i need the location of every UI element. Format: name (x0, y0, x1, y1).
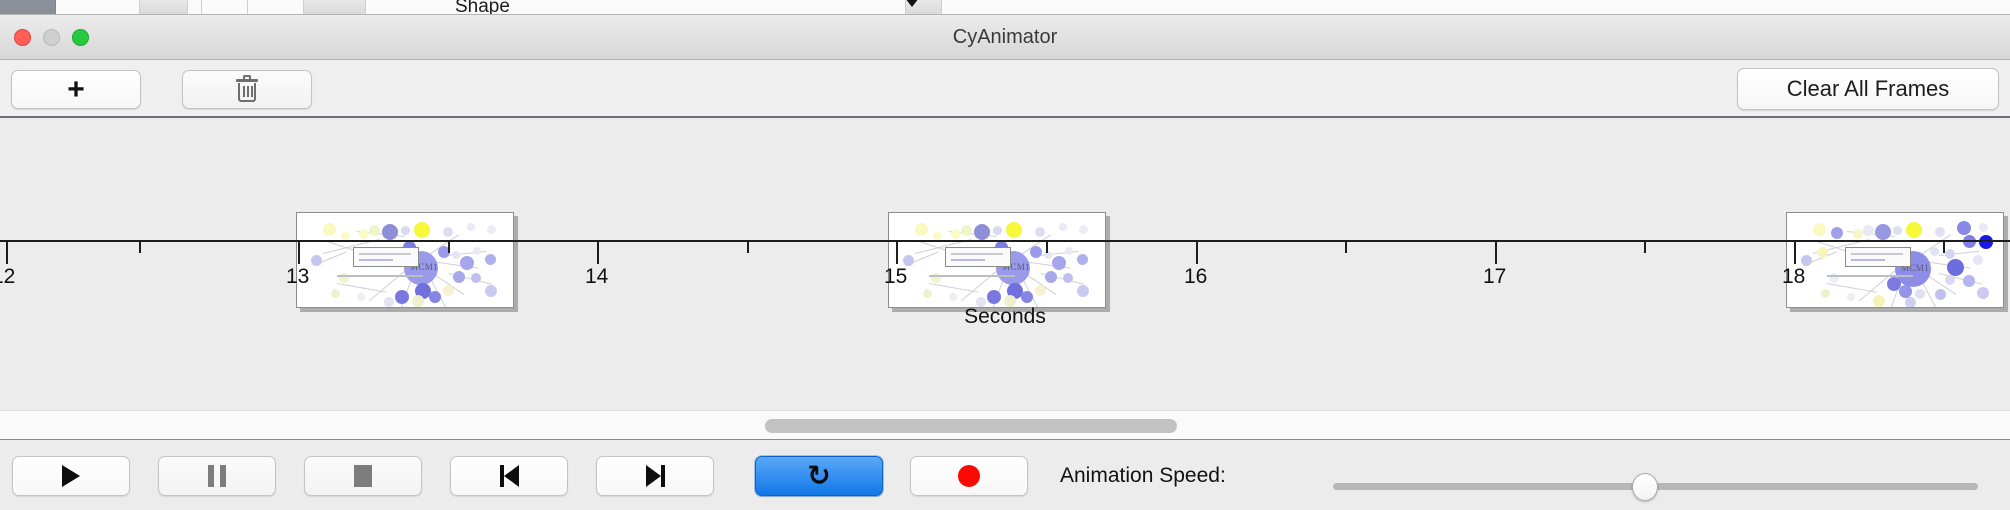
toolbar: + Clear All Frames (0, 60, 2010, 118)
ruler-tick-major (1495, 242, 1497, 264)
animation-speed-slider-thumb[interactable] (1632, 473, 1658, 501)
clear-all-frames-button[interactable]: Clear All Frames (1737, 68, 1999, 110)
clear-all-frames-label: Clear All Frames (1787, 76, 1950, 102)
skip-next-icon (646, 465, 665, 487)
plus-icon: + (67, 75, 85, 105)
cyanimator-window: Shape CyAnimator + Clear All Frames (0, 0, 2010, 510)
pause-icon (208, 465, 226, 487)
ruler-tick-minor (139, 242, 141, 253)
bg-segment (56, 0, 140, 15)
ruler-label: 15 (884, 265, 907, 289)
bg-segment (248, 0, 304, 15)
network-thumbnail: MCM1 (297, 213, 513, 307)
titlebar: CyAnimator (0, 15, 2010, 60)
skip-previous-icon (500, 465, 519, 487)
background-window-strip: Shape (0, 0, 2010, 15)
ruler-label: 18 (1782, 265, 1805, 289)
delete-frame-button[interactable] (182, 70, 312, 109)
ruler-tick-minor (1644, 242, 1646, 253)
pause-button[interactable] (158, 456, 276, 496)
ruler-tick-minor (448, 242, 450, 253)
step-forward-button[interactable] (596, 456, 714, 496)
loop-button[interactable]: ↻ (755, 456, 883, 496)
bg-segment (0, 0, 56, 15)
ruler-tick-major (1196, 242, 1198, 264)
ruler-tick-major (298, 242, 300, 264)
background-window-label: Shape (455, 0, 510, 15)
bg-segment (366, 0, 906, 15)
timeline-scrollbar[interactable] (0, 410, 2010, 440)
ruler-label: 12 (0, 265, 15, 289)
ruler-axis-title: Seconds (0, 305, 2010, 329)
timeline-ruler-line (0, 240, 2010, 242)
network-thumbnail: MCM1 (889, 213, 1105, 307)
bg-segment (188, 0, 202, 15)
bg-segment (942, 0, 2010, 15)
ruler-label: 14 (585, 265, 608, 289)
scrollbar-thumb[interactable] (765, 419, 1177, 433)
stop-icon (354, 465, 372, 487)
trash-icon (236, 77, 258, 103)
record-icon (958, 465, 980, 487)
timeline-panel[interactable]: MCM1 (0, 120, 2010, 410)
timeline-frame[interactable]: MCM1 (296, 212, 514, 308)
add-frame-button[interactable]: + (11, 70, 141, 109)
animation-speed-label: Animation Speed: (1060, 464, 1226, 488)
bg-segment (304, 0, 366, 15)
play-button[interactable] (12, 456, 130, 496)
step-back-button[interactable] (450, 456, 568, 496)
ruler-label: 13 (286, 265, 309, 289)
transport-bar: ↻ Animation Speed: (0, 442, 2010, 510)
bg-segment (202, 0, 248, 15)
play-icon (62, 465, 80, 487)
record-button[interactable] (910, 456, 1028, 496)
ruler-tick-minor (1046, 242, 1048, 253)
ruler-tick-major (6, 242, 8, 264)
ruler-tick-major (1794, 242, 1796, 264)
ruler-tick-minor (747, 242, 749, 253)
ruler-label: 16 (1184, 265, 1207, 289)
timeline-frame[interactable]: MCM1 (888, 212, 1106, 308)
ruler-tick-minor (1345, 242, 1347, 253)
ruler-tick-major (896, 242, 898, 264)
timeline-frame[interactable]: MCM1 (1786, 212, 2004, 308)
tooltip-box (1845, 247, 1911, 267)
loop-icon: ↻ (807, 462, 830, 490)
ruler-tick-minor (1943, 242, 1945, 253)
ruler-tick-major (597, 242, 599, 264)
network-thumbnail: MCM1 (1787, 213, 2003, 307)
tooltip-box (353, 247, 419, 267)
bg-caret-icon (905, 0, 919, 7)
tooltip-box (945, 247, 1011, 267)
bg-segment (140, 0, 188, 15)
window-title: CyAnimator (0, 15, 2010, 60)
ruler-label: 17 (1483, 265, 1506, 289)
stop-button[interactable] (304, 456, 422, 496)
